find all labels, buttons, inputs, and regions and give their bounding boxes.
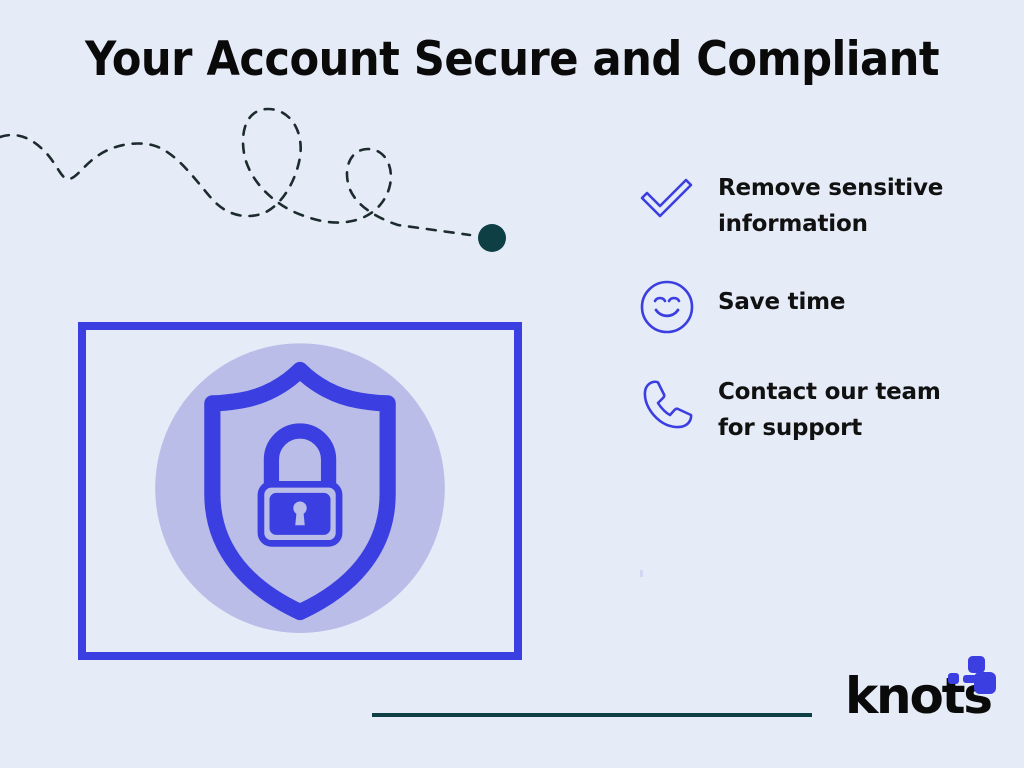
illustration-circle [155, 343, 445, 633]
feature-label-line-1: Save time [718, 289, 845, 315]
feature-item-contact-our-team-for-support[interactable]: Contact our team for support [636, 372, 996, 446]
check-icon [636, 168, 698, 230]
feature-label-line-1: Contact our team [718, 379, 941, 405]
page-title: Your Account Secure and Compliant [41, 30, 983, 90]
feature-label: Remove sensitive information [718, 168, 943, 242]
squiggle-endpoint-dot [478, 224, 506, 252]
phone-icon [636, 372, 698, 434]
stray-mark [640, 570, 643, 577]
shield-lock-graphic [86, 330, 514, 652]
bottom-divider [372, 713, 812, 717]
brand-logo[interactable]: knots [845, 655, 995, 725]
feature-label-line-2: for support [718, 415, 862, 441]
slide-canvas: Your Account Secure and Compliant [0, 0, 1024, 768]
feature-item-save-time[interactable]: Save time [636, 276, 996, 338]
smiley-icon [636, 276, 698, 338]
dashed-path-decoration [0, 95, 540, 270]
keyhole-stem [295, 511, 305, 525]
squiggle-path [0, 109, 470, 235]
feature-list: Remove sensitive information Save time C… [636, 168, 996, 480]
feature-item-remove-sensitive-information[interactable]: Remove sensitive information [636, 168, 996, 242]
feature-label: Contact our team for support [718, 372, 941, 446]
knots-logo-mark [948, 655, 996, 699]
feature-label-line-1: Remove sensitive [718, 175, 943, 201]
feature-label: Save time [718, 276, 845, 320]
shield-lock-illustration [78, 322, 522, 660]
feature-label-line-2: information [718, 211, 868, 237]
